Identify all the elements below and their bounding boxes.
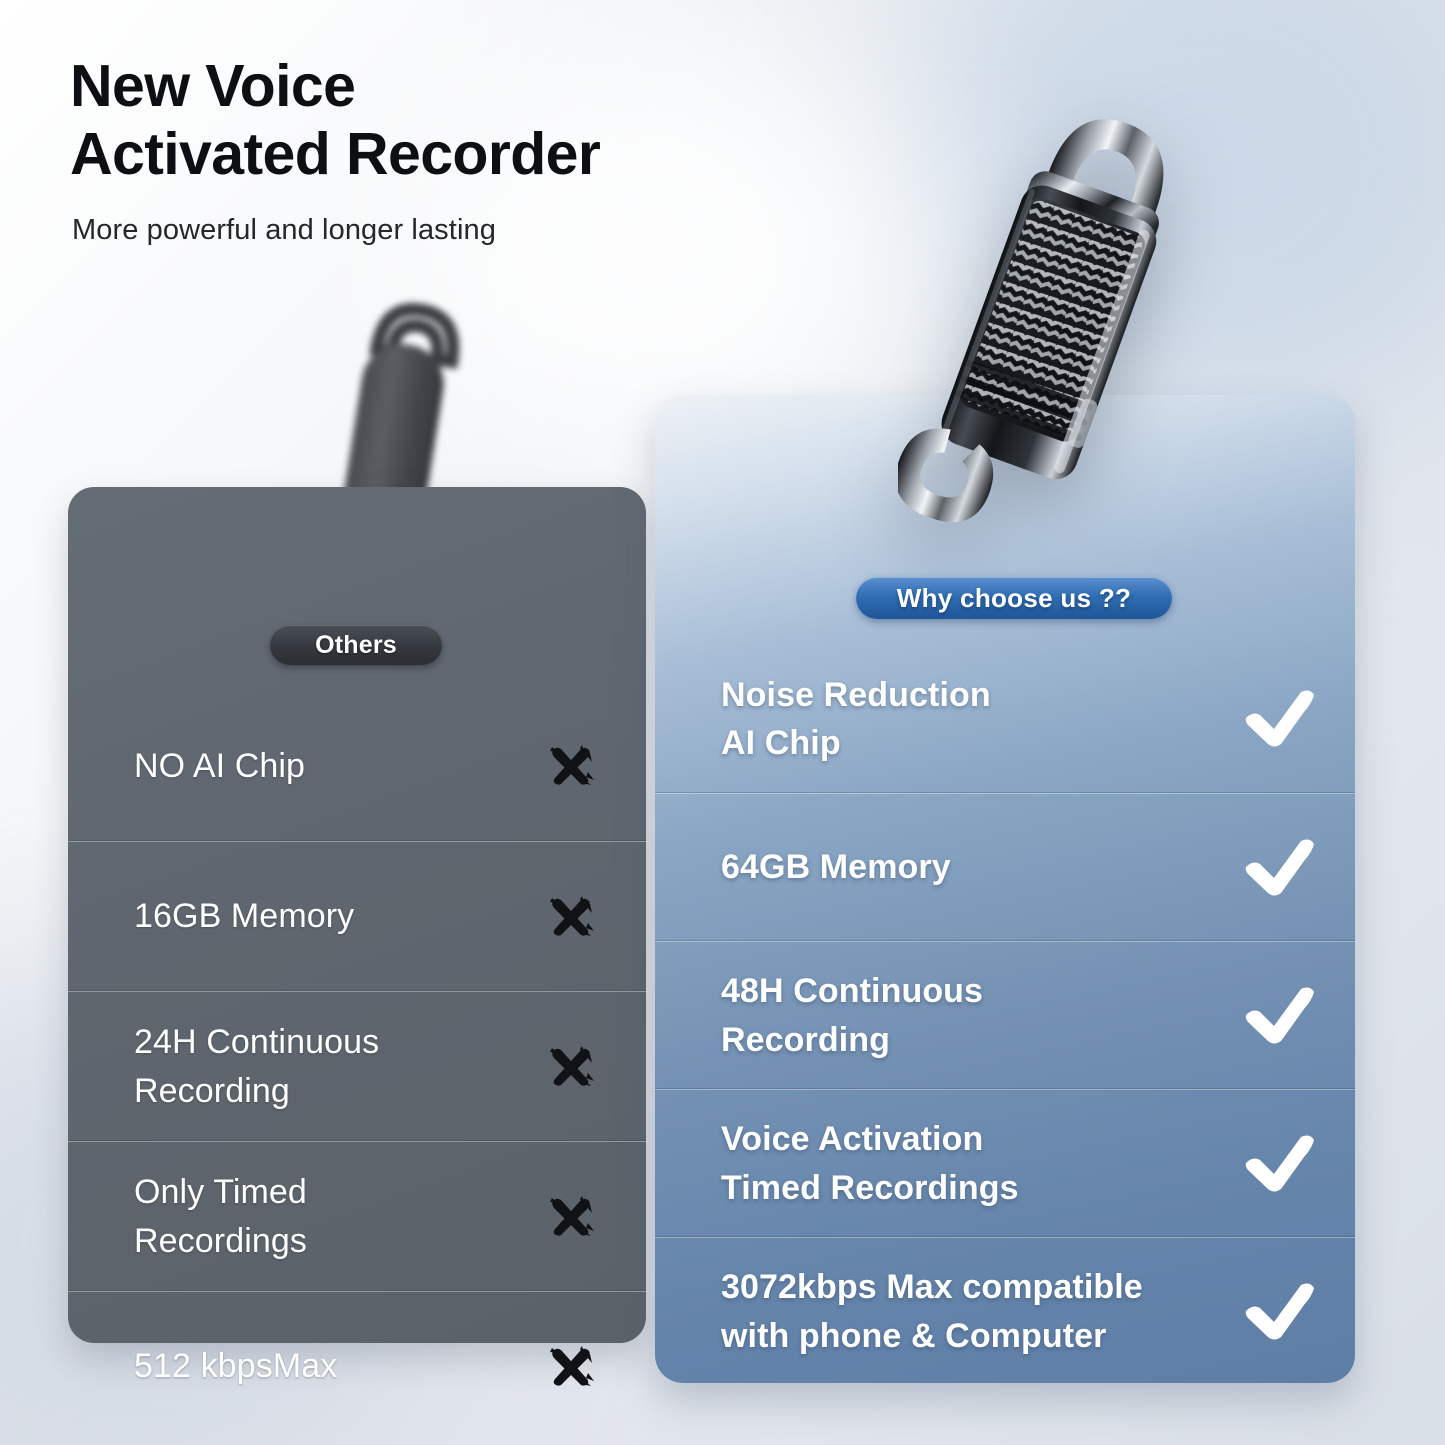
feature-label: 16GB Memory: [134, 892, 496, 940]
table-row: Noise Reduction AI Chip: [655, 645, 1355, 793]
feature-label: Noise Reduction AI Chip: [721, 671, 1205, 768]
cross-icon: [496, 739, 646, 793]
others-badge: Others: [270, 625, 442, 665]
feature-label: 64GB Memory: [721, 843, 1205, 891]
others-feature-list: NO AI Chip 16GB Memory: [68, 691, 646, 1441]
check-icon: [1205, 837, 1355, 899]
cross-icon: [496, 890, 646, 944]
check-icon: [1205, 1133, 1355, 1195]
check-icon: [1205, 688, 1355, 750]
page-title: New Voice Activated Recorder: [70, 52, 830, 189]
feature-label: 3072kbps Max compatible with phone & Com…: [721, 1263, 1205, 1360]
why-choose-us-badge: Why choose us ??: [856, 577, 1172, 619]
hero-product-image: [898, 86, 1208, 556]
check-icon: [1205, 985, 1355, 1047]
table-row: 3072kbps Max compatible with phone & Com…: [655, 1237, 1355, 1385]
page-subtitle: More powerful and longer lasting: [72, 214, 496, 247]
why-choose-us-label: Why choose us ??: [897, 583, 1131, 614]
table-row: 64GB Memory: [655, 793, 1355, 941]
table-row: NO AI Chip: [68, 691, 646, 841]
feature-label: 24H Continuous Recording: [134, 1018, 496, 1115]
table-row: Only Timed Recordings: [68, 1141, 646, 1291]
feature-label: NO AI Chip: [134, 742, 496, 790]
feature-label: Voice Activation Timed Recordings: [721, 1115, 1205, 1212]
cross-icon: [496, 1040, 646, 1094]
ours-feature-list: Noise Reduction AI Chip 64GB Memory 48H …: [655, 645, 1355, 1385]
table-row: 48H Continuous Recording: [655, 941, 1355, 1089]
check-icon: [1205, 1281, 1355, 1343]
product-comparison-infographic: New Voice Activated Recorder More powerf…: [0, 0, 1445, 1445]
table-row: Voice Activation Timed Recordings: [655, 1089, 1355, 1237]
table-row: 512 kbpsMax: [68, 1291, 646, 1441]
others-badge-label: Others: [315, 631, 397, 660]
cross-icon: [496, 1340, 646, 1394]
table-row: 24H Continuous Recording: [68, 991, 646, 1141]
feature-label: Only Timed Recordings: [134, 1168, 496, 1265]
cross-icon: [496, 1190, 646, 1244]
feature-label: 512 kbpsMax: [134, 1342, 496, 1390]
feature-label: 48H Continuous Recording: [721, 967, 1205, 1064]
table-row: 16GB Memory: [68, 841, 646, 991]
